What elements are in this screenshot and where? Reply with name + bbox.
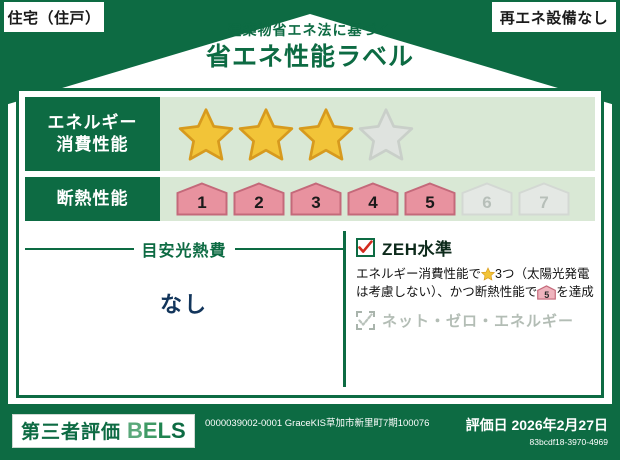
mini-star-icon xyxy=(481,267,495,281)
mini-grade-value: 5 xyxy=(537,291,556,300)
insulation-grade-2: 2 xyxy=(233,182,285,216)
energy-performance-value-cell xyxy=(160,97,595,171)
net-zero-energy-row: ネット・ゼロ・エネルギー xyxy=(356,310,595,331)
star-rating xyxy=(178,107,414,161)
star-filled-icon xyxy=(238,107,294,161)
insulation-grade-scale: 1234567 xyxy=(176,182,570,216)
footer: 第三者評価 BELS 0000039002-0001 GraceKIS草加市新里… xyxy=(0,404,620,460)
bels-letter-l: L xyxy=(158,418,171,444)
insulation-grade-value: 4 xyxy=(347,193,399,213)
insulation-grade-1: 1 xyxy=(176,182,228,216)
title-subtitle: 建築物省エネ法に基づく xyxy=(0,22,620,39)
zeh-desc-part1: エネルギー消費性能で xyxy=(356,267,481,281)
evaluation-id: 0000039002-0001 GraceKIS草加市新里町7期100076 xyxy=(205,417,455,430)
insulation-grade-value: 1 xyxy=(176,193,228,213)
star-empty-icon xyxy=(358,107,414,161)
zeh-column: ZEH水準 エネルギー消費性能で3つ（太陽光発電 は考慮しない）、かつ断熱性能で… xyxy=(352,229,595,389)
insulation-grade-value: 6 xyxy=(461,193,513,213)
insulation-grade-6: 6 xyxy=(461,182,513,216)
insulation-grade-4: 4 xyxy=(347,182,399,216)
energy-label-line2: 消費性能 xyxy=(48,134,138,156)
insulation-performance-label-cell: 断熱性能 xyxy=(25,177,160,221)
zeh-standard-label: ZEH水準 xyxy=(382,235,453,260)
evaluation-code: 83bcdf18-3970-4969 xyxy=(466,437,608,447)
zeh-description: エネルギー消費性能で3つ（太陽光発電 は考慮しない）、かつ断熱性能で5を達成 xyxy=(356,265,595,301)
insulation-grade-value: 7 xyxy=(518,193,570,213)
zeh-standard-row: ZEH水準 xyxy=(356,235,595,260)
utility-cost-value: なし xyxy=(25,287,343,319)
zeh-desc-star-count: 3つ（太陽光発電 xyxy=(495,267,589,281)
insulation-grade-3: 3 xyxy=(290,182,342,216)
rule-right xyxy=(235,248,344,250)
evaluation-date-block: 評価日 2026年2月27日 83bcdf18-3970-4969 xyxy=(466,415,608,447)
bels-letter-b: B xyxy=(127,418,143,444)
bels-letter-e: E xyxy=(143,418,158,444)
vertical-divider xyxy=(343,231,346,387)
bels-logo-jp: 第三者評価 xyxy=(21,417,121,444)
insulation-grade-value: 5 xyxy=(404,193,456,213)
zeh-desc-part2: は考慮しない）、かつ断熱性能で xyxy=(356,285,537,299)
energy-label-line1: エネルギー xyxy=(48,112,138,134)
title-block: 建築物省エネ法に基づく 省エネ性能ラベル xyxy=(0,22,620,72)
bels-letter-s: S xyxy=(171,418,186,444)
utility-cost-heading-text: 目安光熱費 xyxy=(134,237,235,261)
evaluation-date-value: 2026年2月27日 xyxy=(511,417,608,433)
insulation-performance-value-cell: 1234567 xyxy=(160,177,595,221)
row-insulation-performance: 断熱性能 1234567 xyxy=(25,177,595,221)
lower-section: 目安光熱費 なし ZEH水準 エネルギー消費性能で3つ（太陽光発電 xyxy=(25,229,595,389)
evaluation-date: 評価日 2026年2月27日 xyxy=(466,415,608,435)
insulation-grade-value: 2 xyxy=(233,193,285,213)
mini-grade-icon: 5 xyxy=(537,285,556,300)
rule-left xyxy=(25,248,134,250)
insulation-grade-5: 5 xyxy=(404,182,456,216)
insulation-grade-value: 3 xyxy=(290,193,342,213)
insulation-grade-7: 7 xyxy=(518,182,570,216)
energy-performance-label-cell: エネルギー 消費性能 xyxy=(25,97,160,171)
energy-performance-label: 住宅（住戸） 再エネ設備なし 建築物省エネ法に基づく 省エネ性能ラベル エネルギ… xyxy=(0,0,620,460)
row-energy-performance: エネルギー 消費性能 xyxy=(25,97,595,171)
zeh-checkbox xyxy=(356,238,375,257)
bels-logo-en: BELS xyxy=(127,418,186,444)
net-zero-energy-checkbox xyxy=(356,311,375,330)
net-zero-energy-label: ネット・ゼロ・エネルギー xyxy=(382,310,574,331)
utility-cost-heading: 目安光熱費 xyxy=(25,237,343,261)
zeh-desc-part3: を達成 xyxy=(556,285,594,299)
bels-logo: 第三者評価 BELS xyxy=(12,414,195,448)
page-title: 省エネ性能ラベル xyxy=(0,42,620,72)
star-filled-icon xyxy=(178,107,234,161)
performance-panel: エネルギー 消費性能 断熱性能 1234567 目安光熱費 なし xyxy=(16,88,604,398)
star-filled-icon xyxy=(298,107,354,161)
evaluation-date-label: 評価日 xyxy=(466,417,508,433)
utility-cost-column: 目安光熱費 なし xyxy=(25,229,343,389)
